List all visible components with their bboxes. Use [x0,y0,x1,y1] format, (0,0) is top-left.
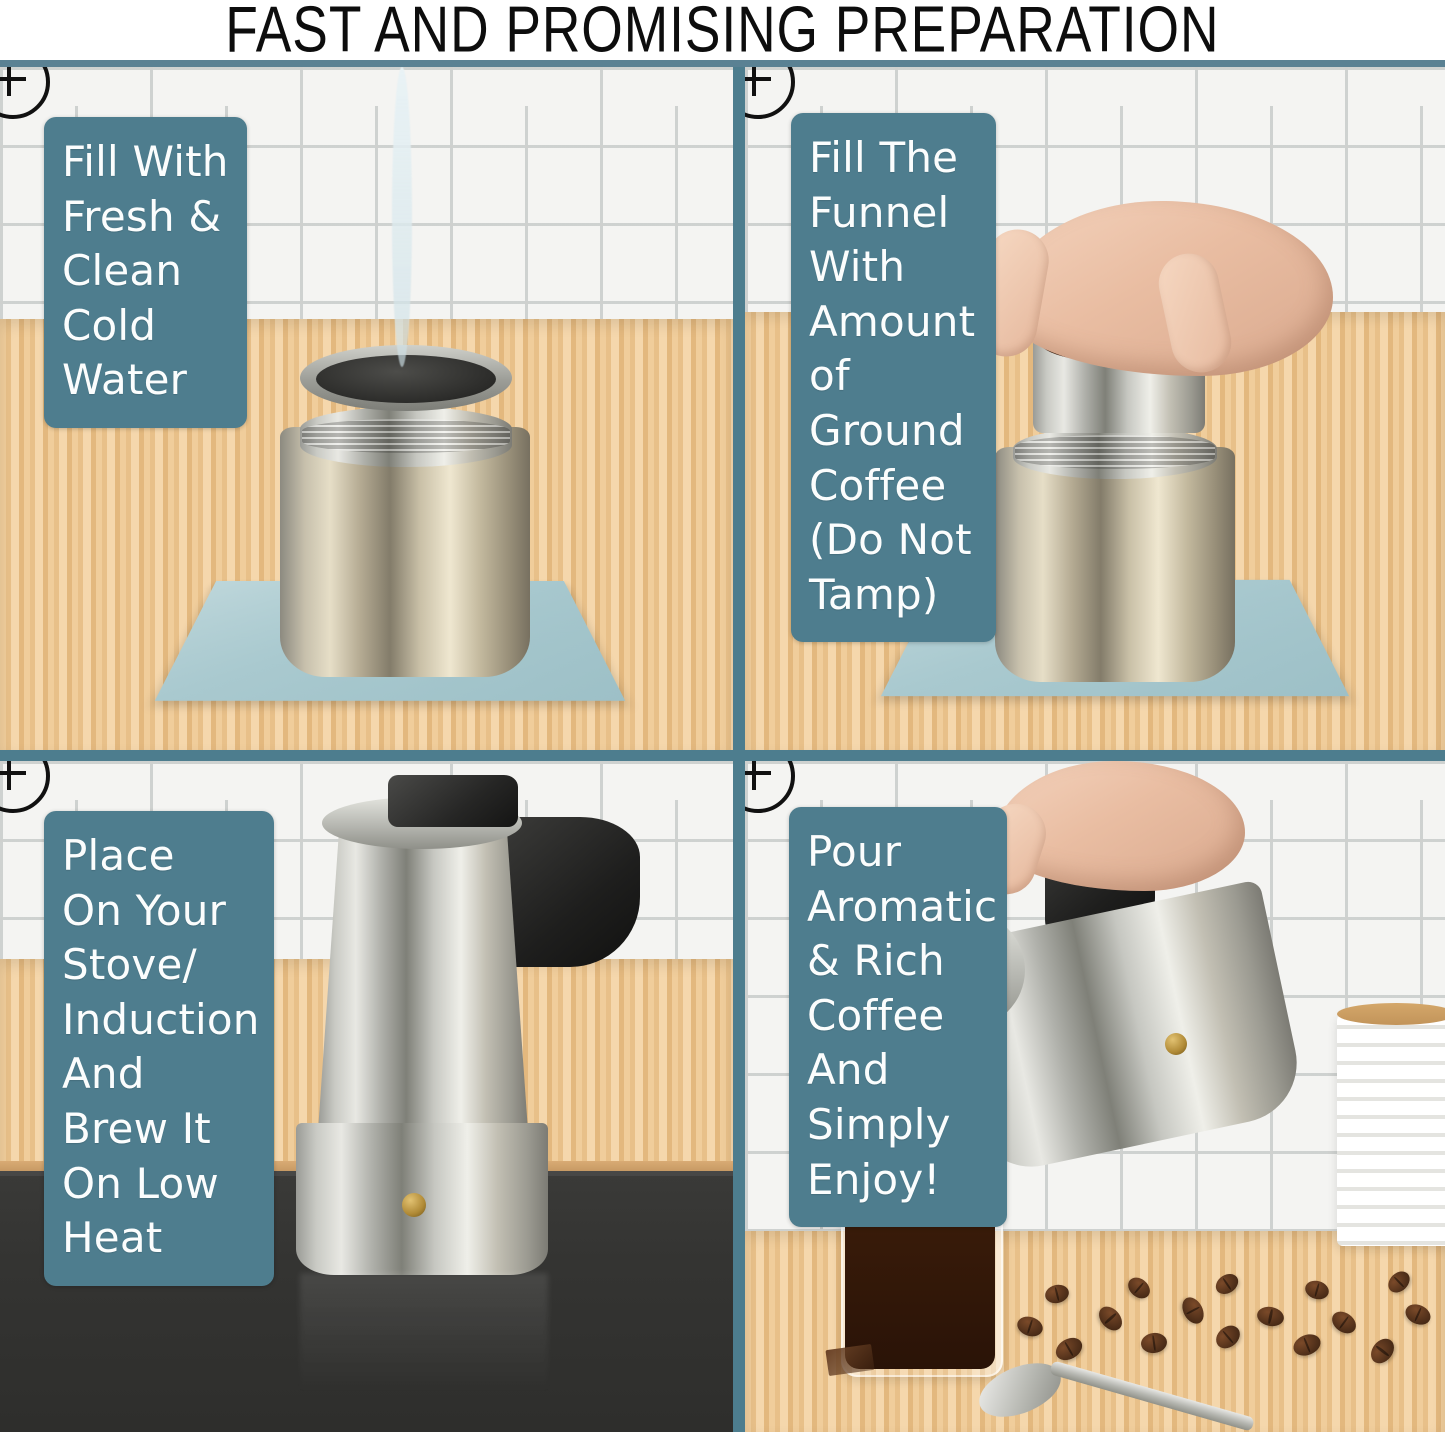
step-3-caption-card: Place On Your Stove/ Induction And Brew … [44,811,274,1286]
moka-pot-base [995,447,1235,682]
step-4-caption-card: Pour Aromatic & Rich Coffee And Simply E… [789,807,1007,1227]
step-4-caption-text: Pour Aromatic & Rich Coffee And Simply E… [807,825,991,1207]
page-title: FAST AND PROMISING PREPARATION [225,0,1219,60]
step-2-caption-card: Fill The Funnel With Amount of Ground Co… [791,113,996,642]
plus-vertical-bar [7,67,11,96]
step-panel-2: Fill The Funnel With Amount of Ground Co… [745,67,1445,750]
plus-horizontal-bar [745,77,771,81]
title-divider-rule [0,60,1445,67]
step-panel-3: Place On Your Stove/ Induction And Brew … [0,761,733,1432]
plus-horizontal-bar [745,771,771,775]
step-1-caption-text: Fill With Fresh & Clean Cold Water [62,135,231,408]
page-title-bar: FAST AND PROMISING PREPARATION [0,0,1445,60]
step-3-caption-text: Place On Your Stove/ Induction And Brew … [62,829,258,1266]
moka-pot-threads [302,419,510,453]
water-surface [316,355,496,403]
lid-knob [388,775,518,827]
plus-vertical-bar [752,67,756,96]
infographic-root: FAST AND PROMISING PREPARATION [0,0,1445,1432]
step-2-caption-text: Fill The Funnel With Amount of Ground Co… [809,131,980,622]
safety-valve [402,1193,426,1217]
pot-handle [495,817,640,967]
moka-pot-threads [1015,435,1215,469]
safety-valve [1165,1033,1187,1055]
water-stream [392,67,412,367]
step-panel-1: Fill With Fresh & Clean Cold Water [0,67,733,750]
plate-stack-top [1337,1003,1445,1025]
step-1-caption-card: Fill With Fresh & Clean Cold Water [44,117,247,428]
plus-vertical-bar [752,761,756,790]
stovetop-reflection [300,1273,548,1393]
plus-horizontal-bar [0,77,26,81]
plus-horizontal-bar [0,771,26,775]
moka-pot-upper-body [318,831,528,1131]
plate-stack [1337,1011,1445,1246]
step-panel-4: Pour Aromatic & Rich Coffee And Simply E… [745,761,1445,1432]
steps-grid: Fill With Fresh & Clean Cold Water [0,67,1445,1432]
plus-vertical-bar [7,761,11,790]
